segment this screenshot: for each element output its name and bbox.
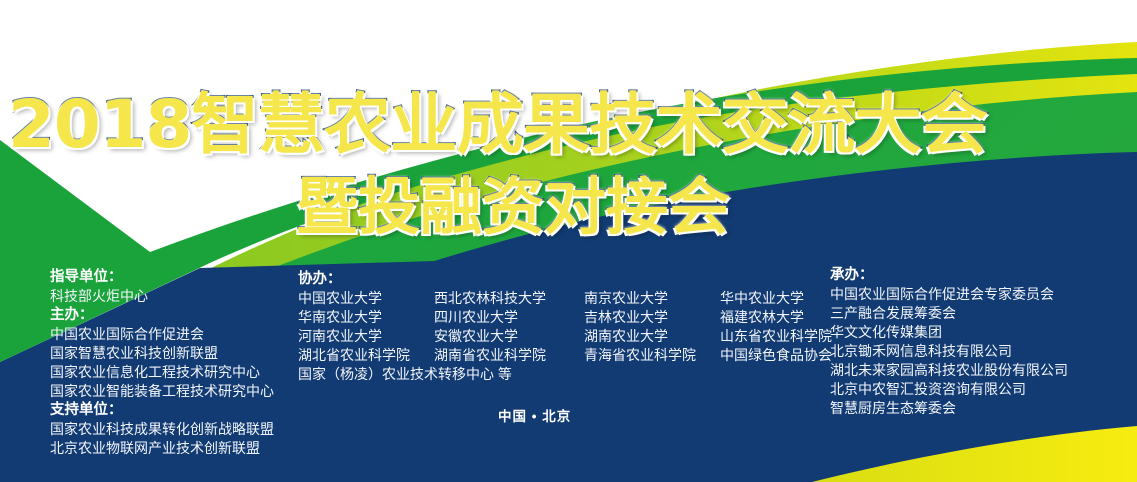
organizer-item: 中国农业国际合作促进会专家委员会 xyxy=(830,285,1068,304)
cohost-item: 河南农业大学 xyxy=(298,327,434,346)
organizer-item: 北京锄禾网信息科技有限公司 xyxy=(830,342,1068,361)
host-heading: 主办： xyxy=(50,306,274,325)
host-item: 中国农业国际合作促进会 xyxy=(50,325,274,344)
cohost-row: 华南农业大学 四川农业大学 吉林农业大学 福建农林大学 xyxy=(298,308,832,327)
credits-column-organizer: 承办： 中国农业国际合作促进会专家委员会 三产融合发展筹委会 华文文化传媒集团 … xyxy=(830,266,1068,418)
credits-column-left: 指导单位： 科技部火炬中心 主办： 中国农业国际合作促进会 国家智慧农业科技创新… xyxy=(50,268,274,458)
cohost-item: 西北农林科技大学 xyxy=(434,289,584,308)
support-item: 国家农业科技成果转化创新战略联盟 xyxy=(50,420,274,439)
guidance-item: 科技部火炬中心 xyxy=(50,287,274,306)
cohost-row: 湖北省农业科学院 湖南省农业科学院 青海省农业科学院 中国绿色食品协会 xyxy=(298,346,832,365)
host-item: 国家农业信息化工程技术研究中心 xyxy=(50,363,274,382)
cohost-row: 河南农业大学 安徽农业大学 湖南农业大学 山东省农业科学院 xyxy=(298,327,832,346)
credits-column-cohost: 协办： 中国农业大学 西北农林科技大学 南京农业大学 华中农业大学 华南农业大学… xyxy=(298,270,832,384)
guidance-heading: 指导单位： xyxy=(50,268,274,287)
organizer-heading: 承办： xyxy=(830,266,1068,285)
organizer-item: 华文文化传媒集团 xyxy=(830,323,1068,342)
cohost-item: 吉林农业大学 xyxy=(584,308,720,327)
support-item: 北京农业物联网产业技术创新联盟 xyxy=(50,439,274,458)
cohost-item: 中国农业大学 xyxy=(298,289,434,308)
cohost-item: 四川农业大学 xyxy=(434,308,584,327)
conference-banner: 2018智慧农业成果技术交流大会 暨投融资对接会 指导单位： 科技部火炬中心 主… xyxy=(0,0,1137,482)
cohost-item: 青海省农业科学院 xyxy=(584,346,720,365)
organizer-item: 北京中农智汇投资咨询有限公司 xyxy=(830,380,1068,399)
cohost-item: 山东省农业科学院 xyxy=(720,327,832,346)
cohost-item: 中国绿色食品协会 xyxy=(720,346,832,365)
cohost-heading: 协办： xyxy=(298,270,832,289)
cohost-row: 中国农业大学 西北农林科技大学 南京农业大学 华中农业大学 xyxy=(298,289,832,308)
cohost-item: 华中农业大学 xyxy=(720,289,804,308)
host-item: 国家智慧农业科技创新联盟 xyxy=(50,344,274,363)
host-item: 国家农业智能装备工程技术研究中心 xyxy=(50,382,274,401)
cohost-item: 安徽农业大学 xyxy=(434,327,584,346)
organizer-item: 三产融合发展筹委会 xyxy=(830,304,1068,323)
location-text: 中国 • 北京 xyxy=(498,405,571,425)
cohost-item: 南京农业大学 xyxy=(584,289,720,308)
credits-block: 指导单位： 科技部火炬中心 主办： 中国农业国际合作促进会 国家智慧农业科技创新… xyxy=(0,0,1137,482)
organizer-item: 智慧厨房生态筹委会 xyxy=(830,399,1068,418)
cohost-last-line: 国家（杨凌）农业技术转移中心 等 xyxy=(298,365,832,384)
cohost-item: 湖北省农业科学院 xyxy=(298,346,434,365)
organizer-item: 湖北未来家园高科技农业股份有限公司 xyxy=(830,361,1068,380)
cohost-item: 湖南省农业科学院 xyxy=(434,346,584,365)
support-heading: 支持单位： xyxy=(50,401,274,420)
cohost-item: 福建农林大学 xyxy=(720,308,804,327)
cohost-item: 湖南农业大学 xyxy=(584,327,720,346)
cohost-item: 华南农业大学 xyxy=(298,308,434,327)
